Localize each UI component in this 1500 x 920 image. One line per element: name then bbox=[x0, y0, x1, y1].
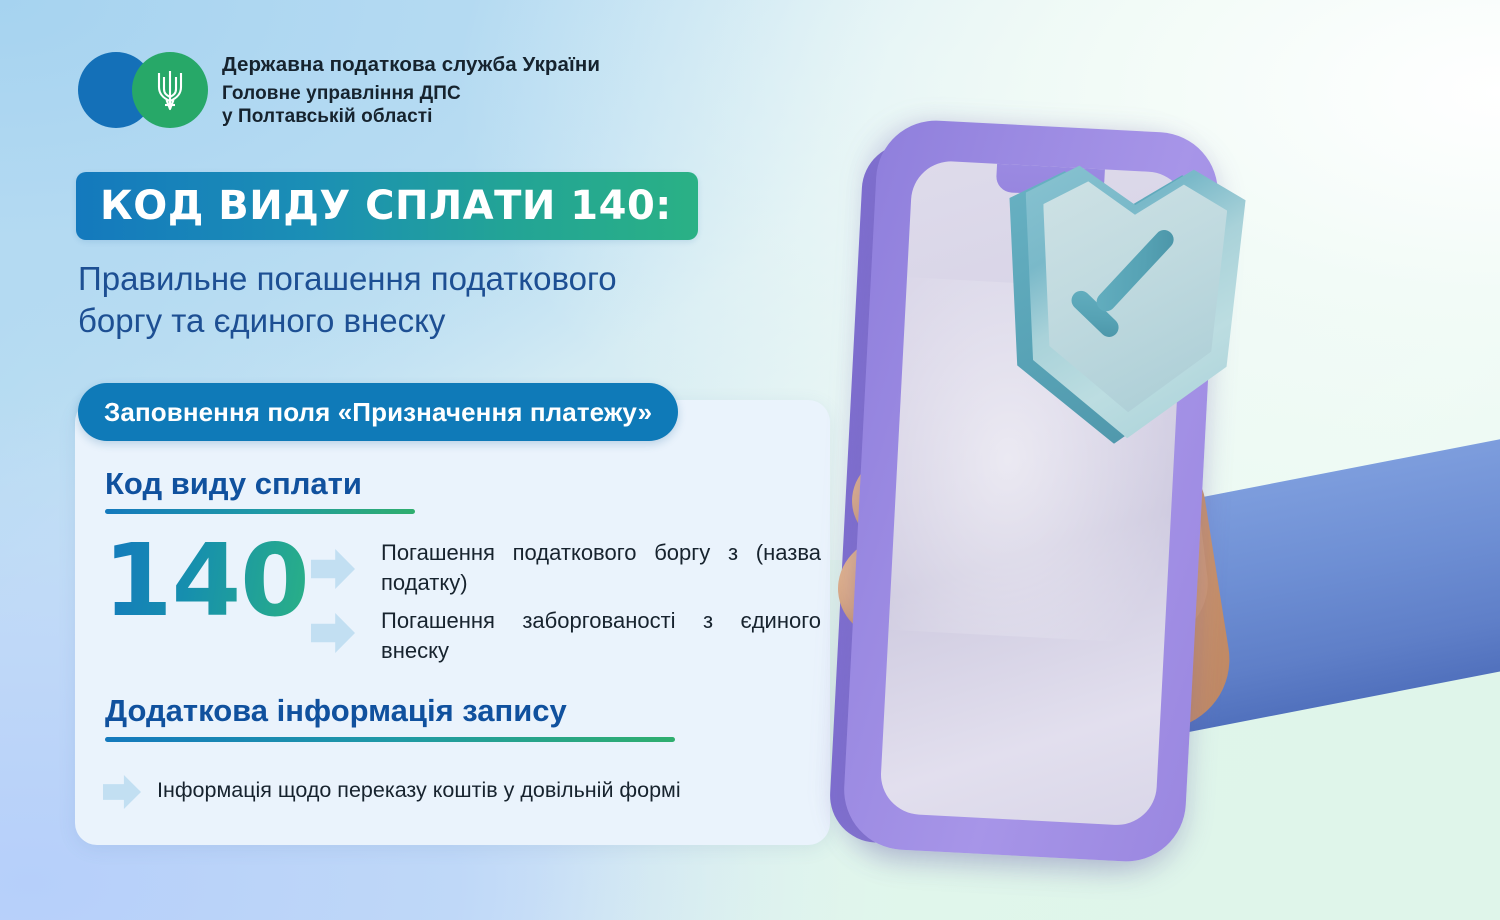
section-heading-payment-code: Код виду сплати bbox=[105, 466, 362, 502]
page-subtitle: Правильне погашення податкового боргу та… bbox=[78, 258, 798, 342]
payment-code-row-2: Погашення заборгованості з єдиного внеск… bbox=[381, 606, 821, 666]
title-banner: КОД ВИДУ СПЛАТИ 140: bbox=[76, 172, 698, 240]
section-pill-header: Заповнення поля «Призначення платежу» bbox=[78, 383, 678, 441]
green-circle-trident-icon bbox=[132, 52, 208, 128]
subtitle-line-1: Правильне погашення податкового bbox=[78, 258, 798, 300]
logo-text-block: Державна податкова служба України Головн… bbox=[222, 52, 600, 128]
agency-logo: Державна податкова служба України Головн… bbox=[78, 52, 600, 128]
additional-info-row-1: Інформація щодо переказу коштів у довіль… bbox=[157, 775, 817, 805]
subtitle-line-2: боргу та єдиного внеску bbox=[78, 300, 798, 342]
logo-line-1: Державна податкова служба України bbox=[222, 52, 600, 77]
section-heading-additional-info: Додаткова інформація запису bbox=[105, 693, 567, 729]
logo-line-3: у Полтавській області bbox=[222, 105, 600, 128]
title-banner-text: КОД ВИДУ СПЛАТИ 140: bbox=[100, 186, 672, 226]
payment-code-value: 140 bbox=[103, 531, 309, 631]
section-underline-1 bbox=[105, 509, 415, 514]
hand-holding-phone-illustration bbox=[800, 0, 1500, 920]
checkmark-icon bbox=[1071, 244, 1198, 334]
logo-marks bbox=[78, 52, 208, 128]
infographic-canvas: Державна податкова служба України Головн… bbox=[0, 0, 1500, 920]
section-underline-2 bbox=[105, 737, 675, 742]
payment-code-row-1: Погашення податкового боргу з (назва под… bbox=[381, 538, 821, 598]
section-pill-label: Заповнення поля «Призначення платежу» bbox=[104, 397, 652, 428]
logo-line-2: Головне управління ДПС bbox=[222, 82, 600, 105]
shield-check-icon bbox=[1001, 146, 1247, 454]
